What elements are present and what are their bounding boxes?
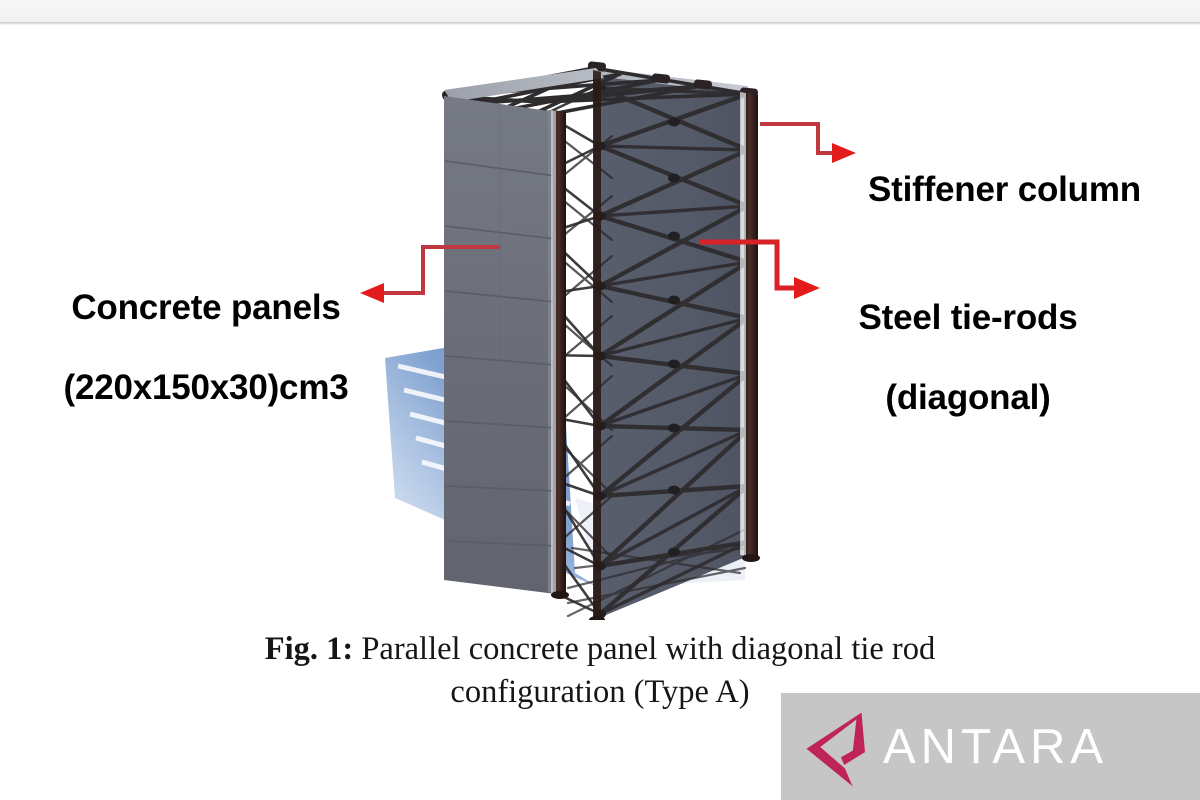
annotation-concrete-panels: Concrete panels (220x150x30)cm3 bbox=[36, 248, 376, 447]
figure-caption-text1: Parallel concrete panel with diagonal ti… bbox=[353, 631, 935, 667]
antara-brand-text: ANTARA bbox=[883, 719, 1108, 775]
leader-stiffener-column bbox=[760, 124, 856, 163]
annotation-stiffener-column: Stiffener column bbox=[868, 130, 1141, 250]
stiffener-column-center bbox=[551, 110, 566, 595]
figure-number: Fig. 1: bbox=[265, 631, 353, 667]
figure-caption-line1: Fig. 1: Parallel concrete panel with dia… bbox=[0, 628, 1200, 671]
antara-watermark: ANTARA bbox=[781, 693, 1200, 800]
stiffener-column-back-left bbox=[593, 70, 601, 620]
annotation-stiffener-column-line1: Stiffener column bbox=[868, 170, 1141, 210]
annotation-steel-tie-rods-line2: (diagonal) bbox=[838, 378, 1098, 418]
page-top-rule bbox=[0, 22, 1200, 25]
annotation-concrete-panels-line2: (220x150x30)cm3 bbox=[36, 368, 376, 408]
stiffener-column-right bbox=[740, 92, 758, 558]
document-page: Concrete panels (220x150x30)cm3 Stiffene… bbox=[0, 0, 1200, 800]
page-top-band bbox=[0, 0, 1200, 22]
annotation-concrete-panels-line1: Concrete panels bbox=[36, 288, 376, 328]
antara-arrow-logo bbox=[791, 704, 877, 790]
annotation-steel-tie-rods-line1: Steel tie-rods bbox=[838, 298, 1098, 338]
annotation-steel-tie-rods: Steel tie-rods (diagonal) bbox=[838, 258, 1098, 457]
